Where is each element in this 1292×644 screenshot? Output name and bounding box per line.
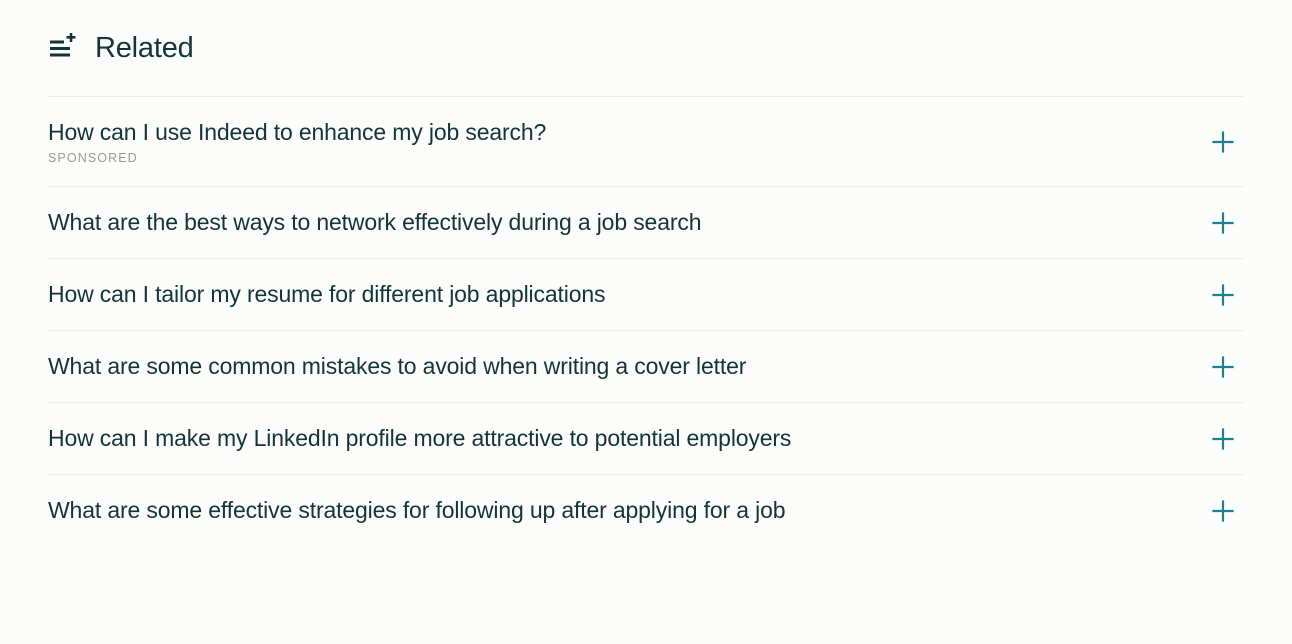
plus-icon[interactable]: [1206, 350, 1240, 384]
list-item[interactable]: How can I use Indeed to enhance my job s…: [48, 96, 1244, 186]
plus-icon[interactable]: [1206, 422, 1240, 456]
list-item-title: How can I make my LinkedIn profile more …: [48, 423, 791, 453]
list-plus-icon: [48, 33, 78, 63]
plus-icon[interactable]: [1206, 206, 1240, 240]
related-panel: Related How can I use Indeed to enhance …: [0, 0, 1292, 644]
list-item-title: What are the best ways to network effect…: [48, 207, 701, 237]
plus-icon[interactable]: [1206, 494, 1240, 528]
list-item-text: What are some effective strategies for f…: [48, 495, 797, 525]
list-item[interactable]: What are some effective strategies for f…: [48, 474, 1244, 546]
list-item-text: How can I use Indeed to enhance my job s…: [48, 117, 558, 167]
page-title: Related: [95, 34, 194, 63]
list-item-title: What are some common mistakes to avoid w…: [48, 351, 746, 381]
list-item-title: How can I tailor my resume for different…: [48, 279, 605, 309]
related-list: How can I use Indeed to enhance my job s…: [0, 96, 1292, 546]
list-item[interactable]: What are some common mistakes to avoid w…: [48, 330, 1244, 402]
plus-icon[interactable]: [1206, 125, 1240, 159]
list-item[interactable]: How can I make my LinkedIn profile more …: [48, 402, 1244, 474]
list-item-text: What are the best ways to network effect…: [48, 207, 713, 237]
list-item[interactable]: What are the best ways to network effect…: [48, 186, 1244, 258]
list-item-title: How can I use Indeed to enhance my job s…: [48, 117, 546, 147]
list-item[interactable]: How can I tailor my resume for different…: [48, 258, 1244, 330]
plus-icon[interactable]: [1206, 278, 1240, 312]
list-item-text: How can I make my LinkedIn profile more …: [48, 423, 803, 453]
list-item-text: How can I tailor my resume for different…: [48, 279, 617, 309]
sponsored-badge: Sponsored: [48, 150, 546, 166]
list-item-text: What are some common mistakes to avoid w…: [48, 351, 758, 381]
list-item-title: What are some effective strategies for f…: [48, 495, 785, 525]
related-header: Related: [0, 0, 1292, 96]
